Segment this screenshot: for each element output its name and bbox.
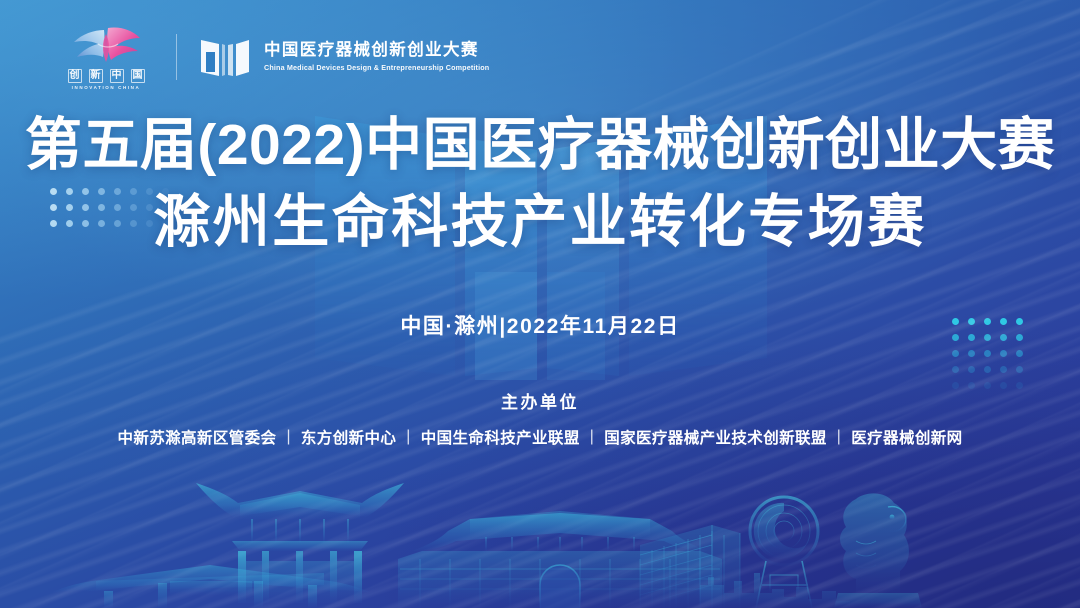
- logo-competition-chinese: 中国医疗器械创新创业大赛: [264, 41, 489, 61]
- logo-char-zhong: 中: [110, 69, 124, 83]
- logo-innovation-chinese: 创 新 中 国: [68, 69, 145, 83]
- organizer-separator: |: [582, 428, 602, 446]
- event-meta: 中国·滁州|2022年11月22日: [0, 310, 1080, 340]
- header-logos: 创 新 中 国 INNOVATION CHINA 中国医疗器械创新创业大赛: [58, 24, 489, 90]
- logo-char-guo: 国: [131, 69, 145, 83]
- page-title-line2: 滁州生命科技产业转化专场赛: [0, 189, 1080, 256]
- logo-divider: [176, 34, 177, 80]
- open-door-icon: [199, 32, 251, 82]
- phoenix-wings-icon: [68, 24, 144, 66]
- logo-innovation-china[interactable]: 创 新 中 国 INNOVATION CHINA: [58, 24, 154, 90]
- organizer-item: 中新苏滁高新区管委会: [115, 426, 278, 448]
- logo-innovation-english: INNOVATION CHINA: [72, 85, 141, 90]
- organizer-item: 国家医疗器械产业技术创新联盟: [602, 426, 829, 448]
- organizers-block: 主办单位 中新苏滁高新区管委会 | 东方创新中心 | 中国生命科技产业联盟 | …: [0, 388, 1080, 448]
- organizer-item: 中国生命科技产业联盟: [419, 426, 582, 448]
- page-title-line1: 第五届(2022)中国医疗器械创新创业大赛: [0, 112, 1080, 179]
- event-location-date: 中国·滁州|2022年11月22日: [0, 310, 1080, 340]
- logo-competition-english: China Medical Devices Design & Entrepren…: [264, 63, 489, 72]
- event-banner: 创 新 中 国 INNOVATION CHINA 中国医疗器械创新创业大赛: [0, 0, 1080, 608]
- organizer-separator: |: [829, 428, 849, 446]
- organizers-list: 中新苏滁高新区管委会 | 东方创新中心 | 中国生命科技产业联盟 | 国家医疗器…: [0, 426, 1080, 448]
- background-vignette: [0, 0, 1080, 608]
- organizers-label: 主办单位: [0, 388, 1080, 413]
- organizer-item: 东方创新中心: [299, 426, 398, 448]
- organizer-separator: |: [278, 428, 298, 446]
- logo-char-xin: 新: [89, 69, 103, 83]
- main-titles: 第五届(2022)中国医疗器械创新创业大赛 滁州生命科技产业转化专场赛: [0, 112, 1080, 257]
- organizer-item: 医疗器械创新网: [849, 426, 964, 448]
- organizer-separator: |: [398, 428, 418, 446]
- logo-competition[interactable]: 中国医疗器械创新创业大赛 China Medical Devices Desig…: [199, 32, 489, 82]
- logo-char-chuang: 创: [68, 69, 82, 83]
